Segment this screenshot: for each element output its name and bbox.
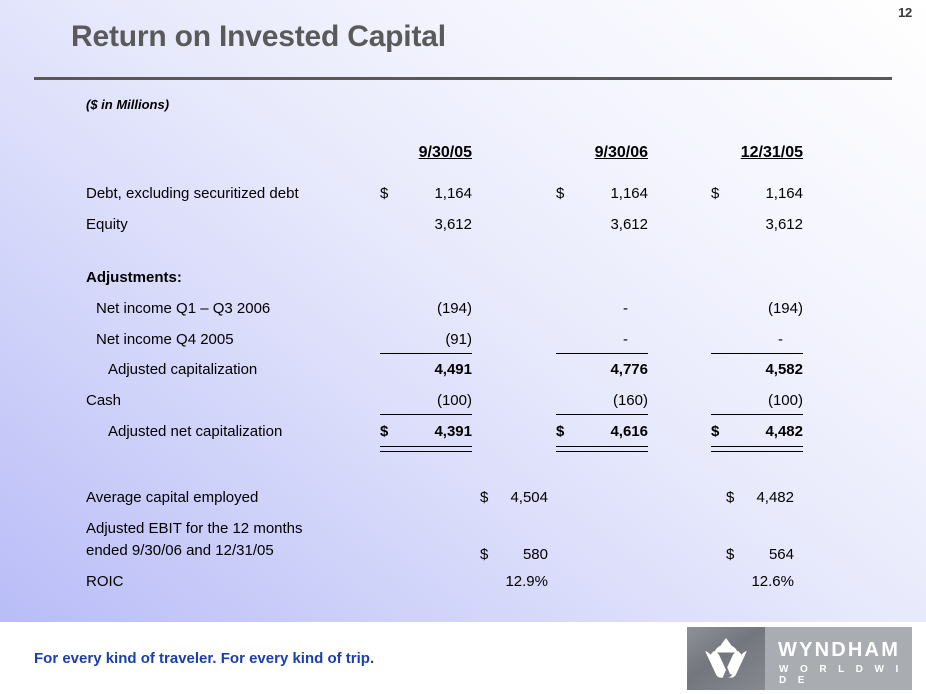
footer-tagline: For every kind of traveler. For every ki…	[34, 650, 374, 667]
row-label-net-income-q4: Net income Q4 2005	[96, 330, 234, 350]
roic-table: 9/30/05 9/30/06 12/31/05 Debt, excluding…	[0, 0, 926, 622]
total-rule-col-0	[380, 414, 472, 415]
column-header-0: 9/30/05	[380, 143, 472, 163]
currency-symbol: $	[726, 488, 734, 508]
row-6-col-1: (160)	[556, 391, 648, 411]
cell-value: 564	[769, 545, 794, 565]
subtotal-rule-col-1	[556, 353, 648, 354]
currency-symbol: $	[556, 422, 564, 442]
cell-value: 4,482	[756, 488, 794, 508]
total-rule-col-1	[556, 414, 648, 415]
double-rule-col-1	[556, 446, 648, 452]
slide: 12 Return on Invested Capital ($ in Mill…	[0, 0, 926, 694]
row-label-adjusted-ebit-line2: ended 9/30/06 and 12/31/05	[86, 541, 274, 561]
currency-symbol: $	[711, 184, 719, 204]
cell-value: 1,164	[765, 184, 803, 204]
currency-symbol: $	[711, 422, 719, 442]
row-label-equity: Equity	[86, 215, 128, 235]
row-3-col-0: (194)	[380, 299, 472, 319]
wyndham-worldwide-logo: WYNDHAM W O R L D W I D E	[687, 627, 912, 690]
wyndham-wordmark: WYNDHAM W O R L D W I D E	[765, 627, 912, 690]
subtotal-rule-col-0	[380, 353, 472, 354]
total-rule-col-2	[711, 414, 803, 415]
cell-value: 1,164	[434, 184, 472, 204]
cell-value: 4,616	[610, 422, 648, 442]
row-4-col-0: (91)	[380, 330, 472, 350]
cell-value: 580	[523, 545, 548, 565]
row-label-adjustments: Adjustments:	[86, 268, 182, 288]
cell-value: 4,504	[510, 488, 548, 508]
row-label-roic: ROIC	[86, 572, 124, 592]
row-6-col-2: (100)	[711, 391, 803, 411]
column-header-2: 12/31/05	[711, 143, 803, 163]
double-rule-col-2	[711, 446, 803, 452]
row-10-col-2: 12.6%	[726, 572, 794, 592]
row-1-col-1: 3,612	[556, 215, 648, 235]
row-5-col-0: 4,491	[380, 360, 472, 380]
currency-symbol: $	[556, 184, 564, 204]
row-6-col-0: (100)	[380, 391, 472, 411]
row-label-debt: Debt, excluding securitized debt	[86, 184, 299, 204]
row-label-average-capital-employed: Average capital employed	[86, 488, 258, 508]
cell-value: 1,164	[610, 184, 648, 204]
logo-sub-text: W O R L D W I D E	[779, 664, 912, 686]
row-3-col-1: -	[556, 299, 628, 319]
currency-symbol: $	[726, 545, 734, 565]
row-5-col-2: 4,582	[711, 360, 803, 380]
logo-main-text: WYNDHAM	[778, 640, 900, 660]
cell-value: 4,482	[765, 422, 803, 442]
currency-symbol: $	[380, 184, 388, 204]
currency-symbol: $	[480, 488, 488, 508]
row-label-net-income-q1-q3: Net income Q1 – Q3 2006	[96, 299, 270, 319]
wyndham-crown-w-icon	[687, 627, 765, 690]
cell-value: 4,391	[434, 422, 472, 442]
row-5-col-1: 4,776	[556, 360, 648, 380]
row-label-adjusted-capitalization: Adjusted capitalization	[108, 360, 257, 380]
subtotal-rule-col-2	[711, 353, 803, 354]
row-3-col-2: (194)	[711, 299, 803, 319]
row-label-cash: Cash	[86, 391, 121, 411]
currency-symbol: $	[380, 422, 388, 442]
currency-symbol: $	[480, 545, 488, 565]
row-label-adjusted-net-capitalization: Adjusted net capitalization	[108, 422, 282, 442]
row-4-col-1: -	[556, 330, 628, 350]
row-4-col-2: -	[711, 330, 783, 350]
double-rule-col-0	[380, 446, 472, 452]
row-1-col-0: 3,612	[380, 215, 472, 235]
column-header-1: 9/30/06	[556, 143, 648, 163]
row-1-col-2: 3,612	[711, 215, 803, 235]
row-label-adjusted-ebit-line1: Adjusted EBIT for the 12 months	[86, 519, 303, 539]
row-10-col-1: 12.9%	[480, 572, 548, 592]
